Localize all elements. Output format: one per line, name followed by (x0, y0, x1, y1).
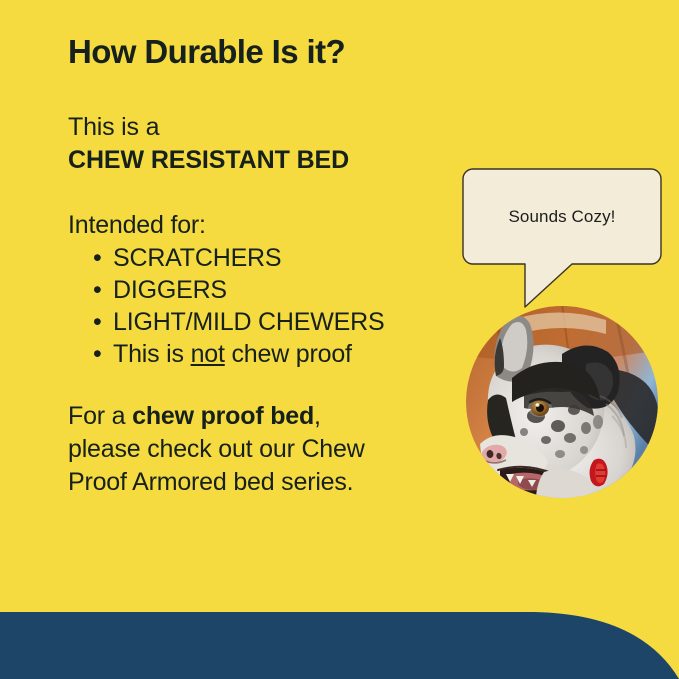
outro-line-1-emphasis: chew proof bed (132, 402, 314, 430)
list-item-label: LIGHT/MILD CHEWERS (113, 308, 384, 336)
outro-line-1-pre: For a (68, 402, 132, 430)
bullet-icon: • (93, 242, 102, 274)
dog-photo-illustration (466, 304, 658, 500)
bullet-icon: • (93, 338, 102, 370)
list-item: • LIGHT/MILD CHEWERS (68, 306, 488, 338)
outro-block: For a chew proof bed, please check out o… (68, 400, 488, 499)
bottom-accent-band (0, 610, 679, 679)
list-item-label-post: chew proof (225, 340, 352, 368)
intended-for-block: Intended for: • SCRATCHERS • DIGGERS • L… (68, 209, 488, 370)
outro-line-3: Proof Armored bed series. (68, 466, 488, 499)
lead-line-2-product-type: CHEW RESISTANT BED (68, 144, 488, 177)
intended-for-label: Intended for: (68, 209, 488, 242)
outro-line-1-post: , (314, 402, 321, 430)
speech-bubble: Sounds Cozy! (462, 168, 668, 310)
list-item: • DIGGERS (68, 274, 488, 306)
intended-for-list: • SCRATCHERS • DIGGERS • LIGHT/MILD CHEW… (68, 242, 488, 370)
list-item: • SCRATCHERS (68, 242, 488, 274)
page-title: How Durable Is it? (68, 32, 345, 72)
list-item-disclaimer: • This is not chew proof (68, 338, 488, 370)
speech-bubble-text: Sounds Cozy! (462, 168, 662, 265)
bullet-icon: • (93, 306, 102, 338)
list-item-label-pre: This is (113, 340, 191, 368)
infographic-canvas: How Durable Is it? This is a CHEW RESIST… (0, 0, 679, 679)
dog-photo (466, 304, 658, 500)
outro-line-2: please check out our Chew (68, 433, 488, 466)
list-item-label-emphasis: not (191, 340, 225, 368)
list-item-label: DIGGERS (113, 276, 227, 304)
bullet-icon: • (93, 274, 102, 306)
lead-line-1: This is a (68, 111, 488, 144)
bottom-band-shape (0, 610, 679, 679)
list-item-label: SCRATCHERS (113, 244, 281, 272)
lead-block: This is a CHEW RESISTANT BED (68, 111, 488, 177)
outro-line-1: For a chew proof bed, (68, 400, 488, 433)
